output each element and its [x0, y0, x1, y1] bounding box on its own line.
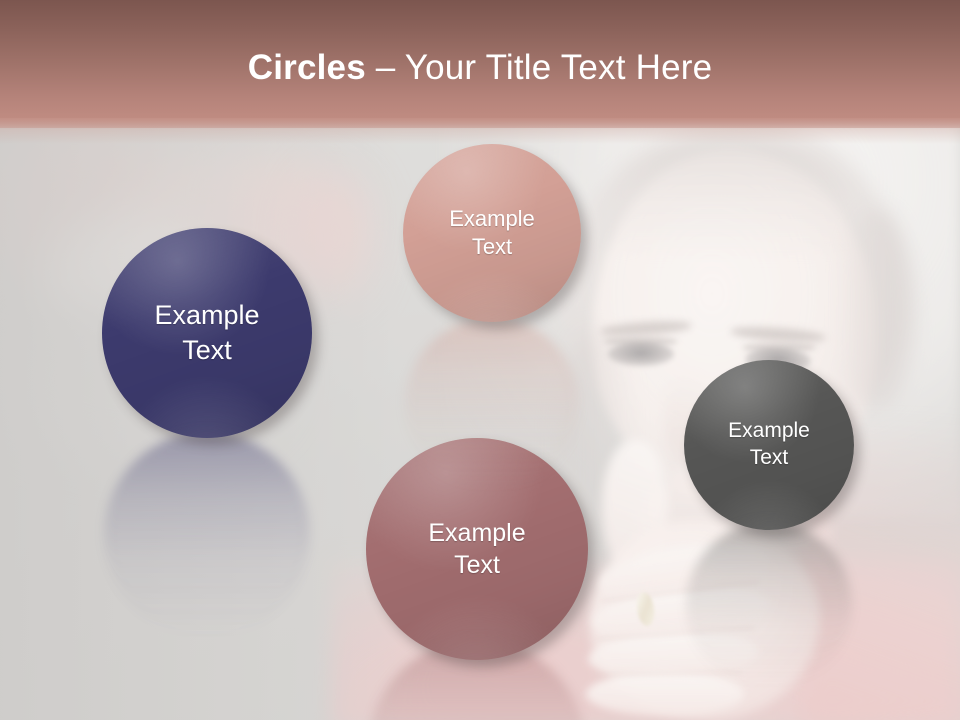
title-rest-part: Your Title Text Here [405, 48, 713, 87]
circle-shape-rose[interactable]: ExampleText [366, 438, 588, 660]
title-bar-fade [0, 118, 960, 144]
circle-label: ExampleText [720, 418, 818, 472]
circle-label-line2: Text [454, 551, 500, 579]
circle-label-line2: Text [750, 446, 789, 469]
circle-label-line1: Example [449, 206, 535, 231]
slide-canvas: Circles – Your Title Text Here ExampleTe… [0, 0, 960, 720]
circle-label-line1: Example [428, 519, 525, 547]
circle-label-line1: Example [728, 419, 810, 442]
page-title: Circles – Your Title Text Here [0, 47, 960, 89]
circle-label: ExampleText [420, 517, 533, 581]
title-dash: – [366, 48, 405, 87]
circle-shape-salmon[interactable]: ExampleText [403, 144, 581, 322]
circle-label: ExampleText [146, 298, 267, 367]
circle-label-line2: Text [182, 335, 232, 365]
circle-shape-gray[interactable]: ExampleText [684, 360, 854, 530]
circle-label-line2: Text [472, 234, 512, 259]
title-strong-part: Circles [248, 48, 366, 87]
circle-label: ExampleText [441, 205, 543, 261]
circle-label-line1: Example [154, 300, 259, 330]
circle-shape-blue[interactable]: ExampleText [102, 228, 312, 438]
